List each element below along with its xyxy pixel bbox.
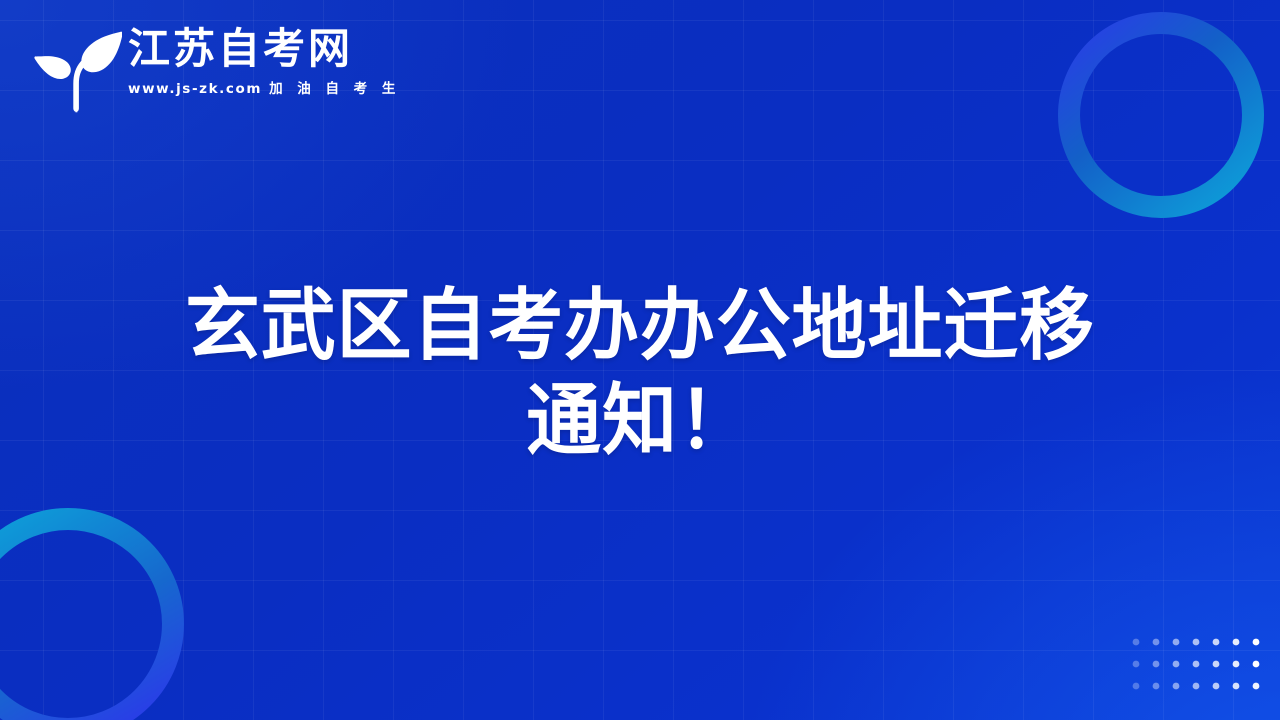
dot-grid-icon [1130, 636, 1260, 692]
ring-top-right-icon [1058, 11, 1264, 219]
logo-tagline-slogan: 加 油 自 考 生 [269, 81, 400, 97]
page-title: 玄武区自考办办公地址迁移通知！ [26, 278, 1255, 468]
poster-canvas: 江苏自考网 www.js-zk.com加 油 自 考 生 玄武区自考办办公地址迁… [0, 0, 1280, 720]
site-logo[interactable]: 江苏自考网 www.js-zk.com加 油 自 考 生 [34, 26, 400, 114]
logo-tagline-url: www.js-zk.com [128, 81, 262, 97]
ring-bottom-left-icon [0, 506, 186, 720]
logo-title: 江苏自考网 [128, 26, 400, 72]
sprout-icon [34, 28, 122, 114]
logo-tagline: www.js-zk.com加 油 自 考 生 [128, 81, 400, 97]
